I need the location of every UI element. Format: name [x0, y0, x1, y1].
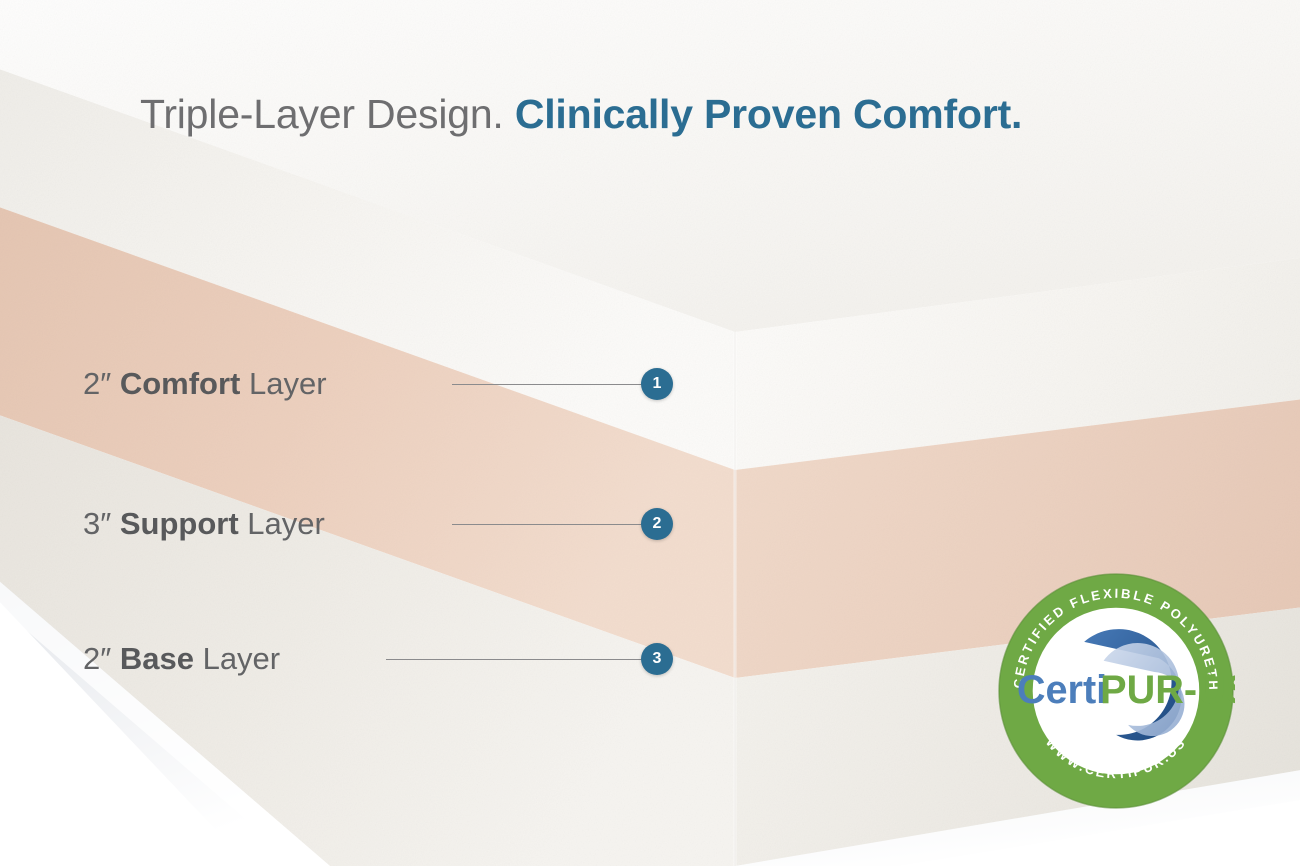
layer-number-badge-1[interactable]: 1	[641, 368, 673, 400]
callout-3-suffix: Layer	[203, 641, 281, 676]
callout-1-leader-line	[452, 384, 642, 385]
callout-2-label: 3″ Support Layer	[83, 504, 325, 544]
certipur-us-seal[interactable]: CONTAINS CERTIFIED FLEXIBLE POLYURETHANE…	[997, 572, 1235, 810]
page-title: Triple-Layer Design. Clinically Proven C…	[140, 94, 1022, 135]
callout-3-thickness: 2″	[83, 641, 111, 676]
infographic-canvas: Triple-Layer Design. Clinically Proven C…	[0, 0, 1300, 866]
seal-wordmark-purus: PUR-US	[1100, 668, 1235, 712]
callout-3-label: 2″ Base Layer	[83, 639, 280, 679]
layer-number-badge-3[interactable]: 3	[641, 643, 673, 675]
callout-2-emphasis: Support	[120, 506, 239, 541]
callout-3-leader-line	[386, 659, 642, 660]
headline-accent-text: Clinically Proven Comfort.	[515, 91, 1022, 137]
callout-1-emphasis: Comfort	[120, 366, 241, 401]
seal-wordmark: Certi PUR-US ®	[1017, 668, 1235, 712]
callout-2-leader-line	[452, 524, 642, 525]
callout-2-thickness: 3″	[83, 506, 111, 541]
callout-1-suffix: Layer	[249, 366, 327, 401]
seal-registered-mark: ®	[1202, 668, 1213, 684]
callout-2-suffix: Layer	[247, 506, 325, 541]
callout-3-emphasis: Base	[120, 641, 194, 676]
callout-1-label: 2″ Comfort Layer	[83, 364, 327, 404]
seal-wordmark-certi: Certi	[1017, 668, 1107, 712]
callout-1-thickness: 2″	[83, 366, 111, 401]
headline-plain-text: Triple-Layer Design.	[140, 91, 504, 137]
layer-number-badge-2[interactable]: 2	[641, 508, 673, 540]
